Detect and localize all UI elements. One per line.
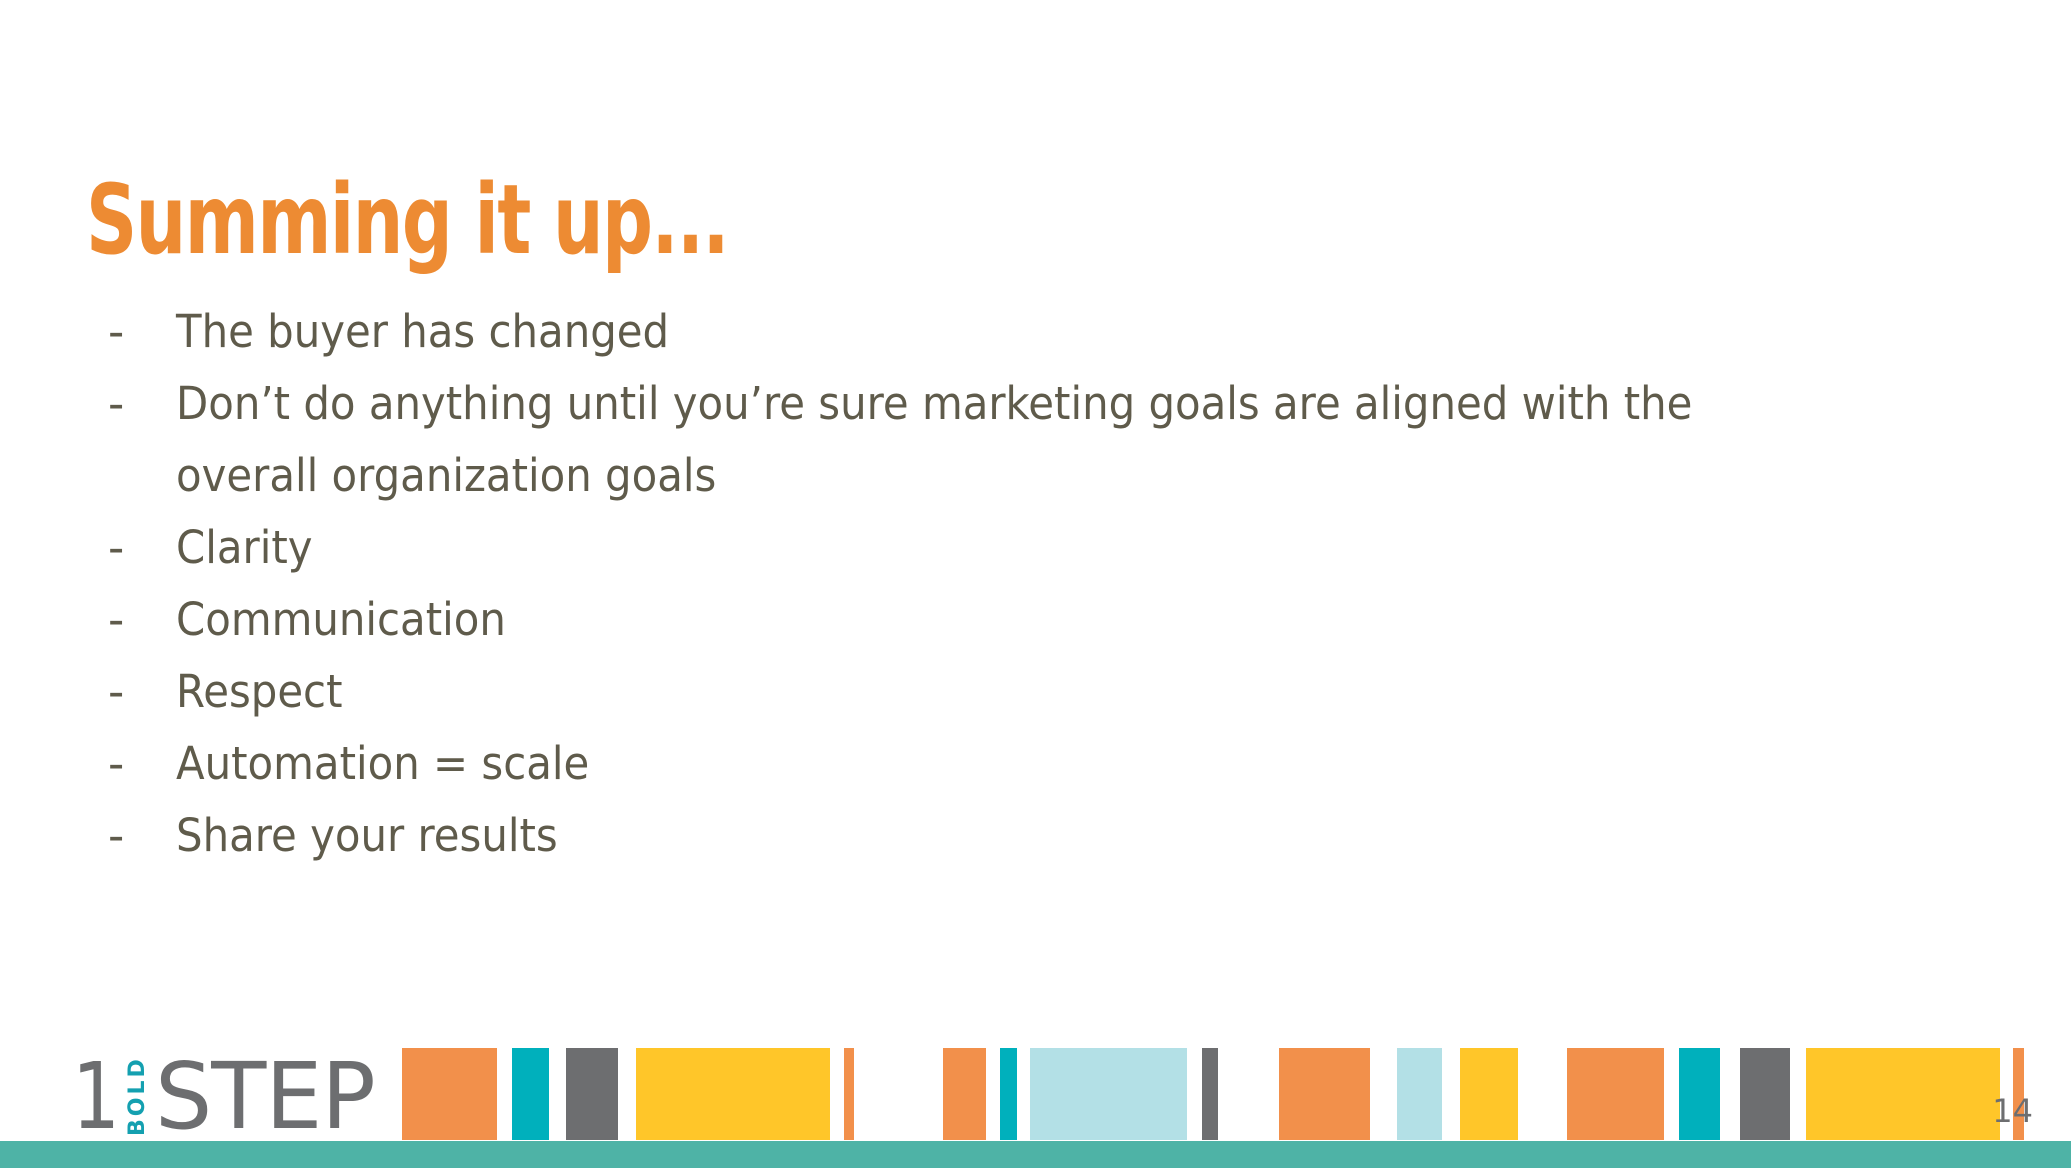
slide-footer: 1 BOLD STEP 14 <box>0 1023 2071 1168</box>
bullet-list: -The buyer has changed-Don’t do anything… <box>108 296 1988 872</box>
stripe-6 <box>1000 1048 1017 1140</box>
bullet-text: Don’t do anything until you’re sure mark… <box>176 368 1757 512</box>
bullet-text: Share your results <box>176 800 1757 872</box>
list-item: -Clarity <box>108 512 1988 584</box>
stripe-1 <box>512 1048 549 1140</box>
list-item: -The buyer has changed <box>108 296 1988 368</box>
logo-bold-vertical-text: BOLD <box>127 1056 149 1136</box>
bullet-dash-marker: - <box>108 800 176 872</box>
bullet-dash-marker: - <box>108 584 176 656</box>
logo-step-text: STEP <box>155 1054 375 1140</box>
bullet-dash-marker: - <box>108 728 176 800</box>
stripe-15 <box>1806 1048 2000 1140</box>
stripe-7 <box>1030 1048 1187 1140</box>
stripe-11 <box>1460 1048 1518 1140</box>
stripe-12 <box>1567 1048 1664 1140</box>
stripe-9 <box>1279 1048 1370 1140</box>
stripe-0 <box>402 1048 497 1140</box>
bullet-text: Respect <box>176 656 1757 728</box>
slide-canvas: Summing it up... -The buyer has changed-… <box>0 0 2071 1168</box>
stripe-10 <box>1397 1048 1442 1140</box>
bullet-dash-marker: - <box>108 512 176 584</box>
stripe-14 <box>1740 1048 1790 1140</box>
stripe-8 <box>1202 1048 1218 1140</box>
decorative-stripe-band <box>402 1048 2002 1140</box>
list-item: -Share your results <box>108 800 1988 872</box>
bottom-accent-bar <box>0 1141 2071 1168</box>
bullet-dash-marker: - <box>108 296 176 368</box>
stripe-3 <box>636 1048 830 1140</box>
stripe-2 <box>566 1048 618 1140</box>
list-item: -Automation = scale <box>108 728 1988 800</box>
bullet-text: Communication <box>176 584 1757 656</box>
list-item: -Respect <box>108 656 1988 728</box>
bullet-text: Clarity <box>176 512 1757 584</box>
logo-numeral-one: 1 <box>72 1054 120 1140</box>
one-bold-step-logo: 1 BOLD STEP <box>72 1048 379 1140</box>
bullet-text: Automation = scale <box>176 728 1757 800</box>
page-title: Summing it up... <box>86 172 728 268</box>
bullet-dash-marker: - <box>108 656 176 728</box>
bullet-dash-marker: - <box>108 368 176 440</box>
stripe-13 <box>1679 1048 1720 1140</box>
list-item: -Communication <box>108 584 1988 656</box>
list-item: -Don’t do anything until you’re sure mar… <box>108 368 1988 512</box>
page-number: 14 <box>1992 1092 2033 1130</box>
bullet-text: The buyer has changed <box>176 296 1757 368</box>
stripe-5 <box>943 1048 986 1140</box>
stripe-4 <box>844 1048 854 1140</box>
